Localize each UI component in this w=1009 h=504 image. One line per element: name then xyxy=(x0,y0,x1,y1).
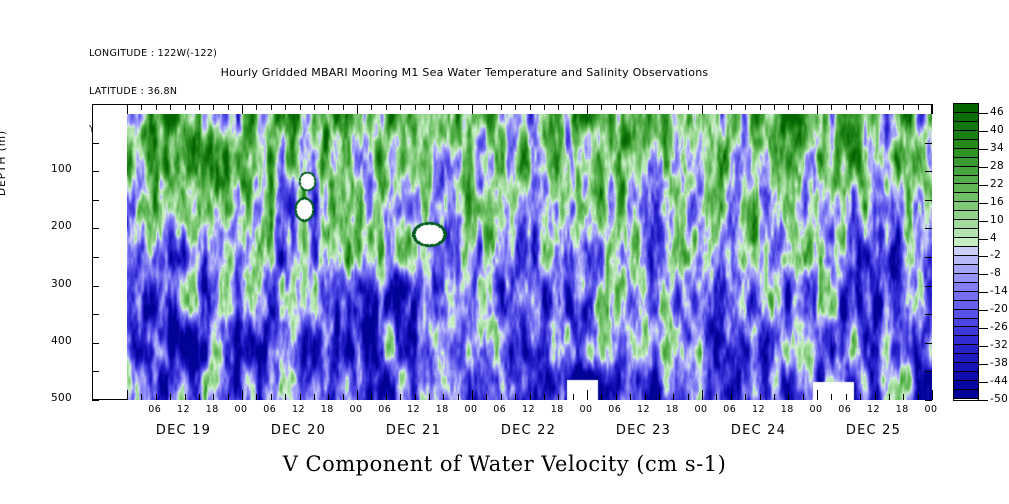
x-axis-tick xyxy=(228,104,229,110)
x-axis-tick xyxy=(386,394,387,400)
x-axis-tick xyxy=(788,394,789,400)
colorbar-band xyxy=(954,354,978,363)
colorbar-tick xyxy=(979,400,988,401)
colorbar-tick xyxy=(979,203,988,204)
y-axis-tick xyxy=(92,200,99,201)
x-axis-tick xyxy=(472,390,473,400)
x-axis-tick xyxy=(213,394,214,400)
colorbar-label: 40 xyxy=(990,124,1004,136)
x-axis-tick xyxy=(156,104,157,110)
x-axis-hour-label: 06 xyxy=(487,404,513,415)
colorbar-tick xyxy=(979,239,988,240)
colorbar-tick xyxy=(979,292,988,293)
x-axis-tick xyxy=(673,394,674,400)
y-axis-tick xyxy=(925,200,932,201)
colorbar-band xyxy=(954,345,978,354)
y-axis-label: 100 xyxy=(12,163,72,175)
x-axis-hour-label: 12 xyxy=(631,404,657,415)
x-axis-tick xyxy=(343,104,344,110)
x-axis-tick xyxy=(141,394,142,400)
x-axis-hour-label: 00 xyxy=(228,404,254,415)
x-axis-tick xyxy=(199,104,200,110)
x-axis-tick xyxy=(515,394,516,400)
x-axis-tick xyxy=(616,104,617,110)
y-axis-tick xyxy=(92,371,99,372)
colorbar-band xyxy=(954,113,978,122)
colorbar-band xyxy=(954,292,978,301)
colorbar-band xyxy=(954,372,978,381)
colorbar-band xyxy=(954,274,978,283)
y-axis-tick xyxy=(92,171,99,172)
x-axis-hour-label: 00 xyxy=(803,404,829,415)
colorbar-band xyxy=(954,176,978,185)
x-axis-tick xyxy=(630,394,631,400)
x-axis-tick xyxy=(659,394,660,400)
x-axis-tick xyxy=(300,394,301,400)
x-axis-tick xyxy=(817,390,818,400)
colorbar-band xyxy=(954,202,978,211)
x-axis-tick xyxy=(501,394,502,400)
x-axis-tick xyxy=(932,104,933,114)
colorbar-band xyxy=(954,220,978,229)
colorbar-tick xyxy=(979,274,988,275)
colorbar-band xyxy=(954,256,978,265)
x-axis-tick xyxy=(185,104,186,110)
x-axis-tick xyxy=(846,394,847,400)
x-axis-tick xyxy=(875,104,876,110)
x-axis-tick xyxy=(803,104,804,110)
x-axis-tick xyxy=(400,394,401,400)
x-axis-tick xyxy=(256,394,257,400)
x-axis-tick xyxy=(803,394,804,400)
x-axis-hour-label: 12 xyxy=(286,404,312,415)
chart-title-text: Hourly Gridded MBARI Mooring M1 Sea Wate… xyxy=(221,66,709,79)
x-axis-tick xyxy=(515,104,516,110)
y-axis-tick xyxy=(92,257,99,258)
x-axis-tick xyxy=(688,104,689,110)
x-axis-tick xyxy=(472,104,473,114)
x-axis-hour-label: 18 xyxy=(314,404,340,415)
x-axis-tick xyxy=(587,390,588,400)
y-axis-tick xyxy=(925,228,932,229)
x-axis-tick xyxy=(601,394,602,400)
colorbar-band xyxy=(954,158,978,167)
colorbar-label: -14 xyxy=(990,285,1008,297)
y-axis-tick xyxy=(92,343,99,344)
y-axis-tick xyxy=(92,286,99,287)
colorbar-band xyxy=(954,238,978,247)
x-axis-tick xyxy=(889,394,890,400)
x-axis-tick xyxy=(300,104,301,110)
colorbar-label: 22 xyxy=(990,178,1004,190)
x-axis-tick xyxy=(831,394,832,400)
x-axis-tick xyxy=(831,104,832,110)
colorbar-band xyxy=(954,229,978,238)
x-axis-tick xyxy=(616,394,617,400)
colorbar-band xyxy=(954,301,978,310)
x-axis-hour-label: 06 xyxy=(372,404,398,415)
colorbar-band xyxy=(954,310,978,319)
x-axis-tick xyxy=(788,104,789,110)
x-axis-tick xyxy=(817,104,818,114)
x-axis-tick xyxy=(486,104,487,110)
x-axis-tick xyxy=(573,104,574,110)
colorbar-label: 46 xyxy=(990,106,1004,118)
y-axis-tick xyxy=(925,257,932,258)
y-axis-label: 200 xyxy=(12,220,72,232)
x-axis-tick xyxy=(285,394,286,400)
y-axis-label: 400 xyxy=(12,335,72,347)
x-axis-day-label: DEC 19 xyxy=(119,423,249,438)
x-axis-tick xyxy=(256,104,257,110)
x-axis-tick xyxy=(242,390,243,400)
x-axis-tick xyxy=(716,104,717,110)
x-axis-tick xyxy=(702,390,703,400)
x-axis-tick xyxy=(429,104,430,110)
colorbar-band xyxy=(954,167,978,176)
x-axis-tick xyxy=(530,104,531,110)
x-axis-tick xyxy=(774,104,775,110)
x-axis-tick xyxy=(199,394,200,400)
x-axis-tick xyxy=(415,394,416,400)
x-axis-tick xyxy=(688,394,689,400)
x-axis-tick xyxy=(458,394,459,400)
colorbar-band xyxy=(954,122,978,131)
colorbar-tick xyxy=(979,113,988,114)
colorbar-tick xyxy=(979,167,988,168)
x-axis-tick xyxy=(386,104,387,110)
x-axis-tick xyxy=(760,104,761,110)
colorbar-label: -2 xyxy=(990,249,1001,261)
x-axis-tick xyxy=(860,104,861,110)
x-axis-day-label: DEC 20 xyxy=(234,423,364,438)
x-axis-tick xyxy=(889,104,890,110)
x-axis-tick xyxy=(429,394,430,400)
colorbar-label: 4 xyxy=(990,232,997,244)
colorbar-band xyxy=(954,193,978,202)
x-axis-hour-label: 12 xyxy=(516,404,542,415)
x-axis-hour-label: 06 xyxy=(717,404,743,415)
x-axis-tick xyxy=(745,104,746,110)
y-axis-label: 300 xyxy=(12,278,72,290)
colorbar-band xyxy=(954,184,978,193)
y-axis-tick xyxy=(92,400,99,401)
colorbar-label: -26 xyxy=(990,321,1008,333)
x-axis-hour-label: 18 xyxy=(429,404,455,415)
x-axis-tick xyxy=(357,104,358,114)
colorbar-label: -38 xyxy=(990,357,1008,369)
x-axis-tick xyxy=(343,394,344,400)
colorbar-band xyxy=(954,211,978,220)
x-axis-tick xyxy=(903,104,904,110)
colorbar-tick xyxy=(979,256,988,257)
x-axis-tick xyxy=(185,394,186,400)
x-axis-tick xyxy=(544,394,545,400)
colorbar-tick xyxy=(979,382,988,383)
x-axis-tick xyxy=(630,104,631,110)
x-axis-hour-label: 00 xyxy=(688,404,714,415)
x-axis-tick xyxy=(702,104,703,114)
x-axis-tick xyxy=(731,394,732,400)
colorbar-label: 10 xyxy=(990,214,1004,226)
x-axis-tick xyxy=(875,394,876,400)
latitude-text: LATITUDE : 36.8N xyxy=(89,86,217,99)
colorbar xyxy=(953,103,979,401)
x-axis-tick xyxy=(558,394,559,400)
x-axis-tick xyxy=(544,104,545,110)
x-axis-tick xyxy=(846,104,847,110)
x-axis-hour-label: 12 xyxy=(171,404,197,415)
x-axis-hour-label: 12 xyxy=(746,404,772,415)
colorbar-tick xyxy=(979,364,988,365)
y-axis-tick xyxy=(925,171,932,172)
x-axis-tick xyxy=(573,394,574,400)
x-axis-tick xyxy=(443,394,444,400)
plot-caption: V Component of Water Velocity (cm s-1) xyxy=(0,452,1009,476)
x-axis-tick xyxy=(285,104,286,110)
x-axis-day-label: DEC 22 xyxy=(464,423,594,438)
x-axis-day-label: DEC 23 xyxy=(579,423,709,438)
colorbar-band xyxy=(954,265,978,274)
colorbar-tick xyxy=(979,328,988,329)
colorbar-label: -32 xyxy=(990,339,1008,351)
x-axis-tick xyxy=(774,394,775,400)
x-axis-hour-label: 18 xyxy=(889,404,915,415)
x-axis-hour-label: 18 xyxy=(659,404,685,415)
x-axis-tick xyxy=(458,104,459,110)
x-axis-hour-label: 12 xyxy=(861,404,887,415)
colorbar-label: -44 xyxy=(990,375,1008,387)
x-axis-tick xyxy=(903,394,904,400)
x-axis-tick xyxy=(415,104,416,110)
plot-area xyxy=(92,104,932,400)
x-axis-tick xyxy=(213,104,214,110)
x-axis-tick xyxy=(371,394,372,400)
colorbar-band xyxy=(954,247,978,256)
y-axis-title: DEPTH (m) xyxy=(0,130,8,196)
x-axis-tick xyxy=(745,394,746,400)
y-axis-tick xyxy=(925,400,932,401)
colorbar-band xyxy=(954,131,978,140)
colorbar-label: -50 xyxy=(990,393,1008,405)
colorbar-band xyxy=(954,319,978,328)
x-axis-tick xyxy=(918,104,919,110)
x-axis-tick xyxy=(645,104,646,110)
x-axis-tick xyxy=(932,390,933,400)
y-axis-tick xyxy=(925,371,932,372)
x-axis-hour-label: 06 xyxy=(257,404,283,415)
colorbar-band xyxy=(954,140,978,149)
y-axis-tick xyxy=(92,143,99,144)
colorbar-band xyxy=(954,283,978,292)
x-axis-tick xyxy=(156,394,157,400)
heatmap-field xyxy=(127,114,932,400)
x-axis-tick xyxy=(271,104,272,110)
x-axis-tick xyxy=(443,104,444,110)
x-axis-tick xyxy=(400,104,401,110)
y-axis-label: 500 xyxy=(12,392,72,404)
x-axis-hour-label: 12 xyxy=(401,404,427,415)
colorbar-band xyxy=(954,390,978,399)
x-axis-tick xyxy=(486,394,487,400)
colorbar-label: 16 xyxy=(990,196,1004,208)
x-axis-hour-label: 00 xyxy=(573,404,599,415)
x-axis-tick xyxy=(501,104,502,110)
x-axis-tick xyxy=(170,394,171,400)
x-axis-tick xyxy=(760,394,761,400)
colorbar-label: 34 xyxy=(990,142,1004,154)
colorbar-label: 28 xyxy=(990,160,1004,172)
x-axis-hour-label: 00 xyxy=(343,404,369,415)
x-axis-tick xyxy=(314,394,315,400)
x-axis-tick xyxy=(271,394,272,400)
x-axis-tick xyxy=(860,394,861,400)
x-axis-hour-label: 06 xyxy=(832,404,858,415)
x-axis-day-label: DEC 24 xyxy=(694,423,824,438)
x-axis-tick xyxy=(328,394,329,400)
x-axis-tick xyxy=(673,104,674,110)
x-axis-hour-label: 18 xyxy=(199,404,225,415)
x-axis-tick xyxy=(371,104,372,110)
x-axis-tick xyxy=(141,104,142,110)
y-axis-tick xyxy=(925,343,932,344)
x-axis-tick xyxy=(127,104,128,114)
x-axis-day-label: DEC 21 xyxy=(349,423,479,438)
y-axis-tick xyxy=(925,286,932,287)
x-axis-tick xyxy=(170,104,171,110)
colorbar-band xyxy=(954,327,978,336)
colorbar-band xyxy=(954,363,978,372)
x-axis-tick xyxy=(314,104,315,110)
x-axis-tick xyxy=(587,104,588,114)
colorbar-tick xyxy=(979,149,988,150)
x-axis-hour-label: 18 xyxy=(774,404,800,415)
colorbar-tick xyxy=(979,221,988,222)
x-axis-tick xyxy=(601,104,602,110)
x-axis-hour-label: 06 xyxy=(142,404,168,415)
x-axis-tick xyxy=(328,104,329,110)
x-axis-tick xyxy=(731,104,732,110)
y-axis-tick xyxy=(92,314,99,315)
x-axis-tick xyxy=(645,394,646,400)
y-axis-tick xyxy=(925,314,932,315)
x-axis-tick xyxy=(558,104,559,110)
x-axis-hour-label: 00 xyxy=(458,404,484,415)
x-axis-day-label: DEC 25 xyxy=(809,423,939,438)
x-axis-tick xyxy=(918,394,919,400)
chart-title: Hourly Gridded MBARI Mooring M1 Sea Wate… xyxy=(0,66,1009,79)
y-axis-tick xyxy=(925,143,932,144)
colorbar-tick xyxy=(979,131,988,132)
colorbar-tick xyxy=(979,185,988,186)
colorbar-tick xyxy=(979,310,988,311)
colorbar-band xyxy=(954,104,978,113)
colorbar-band xyxy=(954,381,978,390)
x-axis-tick xyxy=(242,104,243,114)
colorbar-label: -8 xyxy=(990,267,1001,279)
longitude-text: LONGITUDE : 122W(-122) xyxy=(89,48,217,61)
x-axis-tick xyxy=(530,394,531,400)
x-axis-tick xyxy=(357,390,358,400)
x-axis-hour-label: 00 xyxy=(918,404,944,415)
colorbar-band xyxy=(954,149,978,158)
x-axis-hour-label: 06 xyxy=(602,404,628,415)
x-axis-tick xyxy=(659,104,660,110)
x-axis-tick xyxy=(716,394,717,400)
colorbar-tick xyxy=(979,346,988,347)
x-axis-tick xyxy=(228,394,229,400)
colorbar-label: -20 xyxy=(990,303,1008,315)
y-axis-tick xyxy=(92,228,99,229)
x-axis-tick xyxy=(127,390,128,400)
colorbar-band xyxy=(954,336,978,345)
x-axis-hour-label: 18 xyxy=(544,404,570,415)
